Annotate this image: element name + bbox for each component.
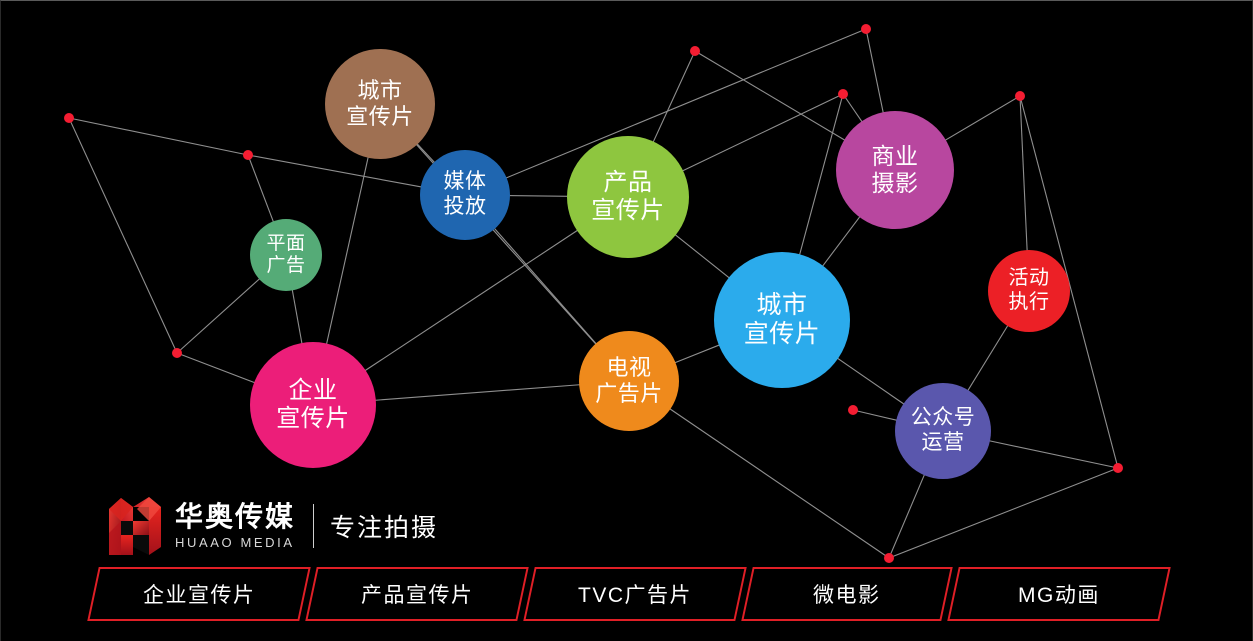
bubble-media-placement[interactable]: 媒体投放 [420,150,510,240]
huaao-h-logo-icon [107,495,163,557]
bubble-label-line: 广告 [266,255,305,277]
slide-canvas: 城市宣传片媒体投放平面广告产品宣传片商业摄影活动执行城市宣传片电视广告片公众号运… [0,0,1253,641]
network-link [505,29,866,179]
bubble-city-promo-blue[interactable]: 城市宣传片 [714,252,850,388]
bubble-label-line: 平面 [266,233,305,255]
bubble-label-line: 活动 [1009,267,1050,291]
network-link [674,234,730,279]
tab-mg-animation[interactable]: MG动画 [947,567,1170,621]
network-link [364,230,579,372]
bubble-label-line: 宣传片 [744,320,821,350]
bubble-label-line: 城市 [357,78,402,104]
bubble-label-line: 摄影 [872,170,919,197]
brand-text: 华奥传媒 HUAAO MEDIA [175,502,295,549]
tab-tvc-ad[interactable]: TVC广告片 [523,567,746,621]
bubble-label-line: 宣传片 [276,405,350,433]
tab-label: MG动画 [1018,579,1100,609]
tab-label: 微电影 [813,579,881,609]
tab-label: TVC广告片 [578,579,692,609]
network-link [669,408,889,558]
network-link [177,353,256,383]
network-link [69,118,248,155]
category-tab-bar: 企业宣传片产品宣传片TVC广告片微电影MG动画 [1,567,1253,629]
network-link [177,278,261,353]
network-link [988,441,1118,468]
network-link [493,227,597,345]
bubble-label-line: 宣传片 [591,197,665,225]
network-link [1020,96,1027,252]
network-link [695,51,846,141]
bubble-label-line: 产品 [604,169,653,197]
tab-micro-film[interactable]: 微电影 [741,567,952,621]
network-node-dot[interactable] [1113,463,1123,473]
bubble-label-line: 企业 [289,377,338,405]
network-link [508,196,569,197]
tab-product-promo[interactable]: 产品宣传片 [305,567,528,621]
brand-logo: 华奥传媒 HUAAO MEDIA 专注拍摄 [107,495,438,557]
bubble-city-promo-brown[interactable]: 城市宣传片 [325,49,435,159]
bubble-label-line: 电视 [606,355,651,381]
network-node-dot[interactable] [1015,91,1025,101]
network-link [674,344,721,363]
tab-enterprise-promo[interactable]: 企业宣传片 [87,567,310,621]
network-link [416,143,435,164]
bubble-label-line: 城市 [756,291,807,321]
network-nodes [64,24,1123,563]
network-node-dot[interactable] [848,405,858,415]
network-link [248,155,274,223]
network-node-dot[interactable] [861,24,871,34]
network-node-dot[interactable] [838,89,848,99]
bubble-label-line: 运营 [922,431,965,456]
bubble-event-execution[interactable]: 活动执行 [988,250,1070,332]
network-link [889,473,925,558]
bubble-label-line: 媒体 [444,170,487,195]
network-link [853,410,898,421]
network-link [889,468,1118,558]
network-link [681,94,843,172]
company-name-cn: 华奥传媒 [175,502,295,531]
network-link [326,156,368,346]
tab-label: 产品宣传片 [361,579,474,609]
network-link [822,216,861,268]
network-link [967,324,1009,392]
network-link [866,29,884,114]
network-node-dot[interactable] [243,150,253,160]
network-link [248,155,423,187]
network-link [944,96,1020,141]
network-node-dot[interactable] [884,553,894,563]
network-link [69,118,177,353]
bubble-commercial-photo[interactable]: 商业摄影 [836,111,954,229]
network-link [292,288,302,345]
bubble-label-line: 宣传片 [346,104,414,130]
bubble-tv-ad[interactable]: 电视广告片 [579,331,679,431]
network-node-dot[interactable] [64,113,74,123]
bubble-label-line: 公众号 [911,406,976,431]
logo-divider [313,504,314,548]
network-links [69,29,1118,558]
network-link [653,51,695,143]
network-link [836,357,905,404]
network-link [843,94,863,123]
bubble-wechat-operation[interactable]: 公众号运营 [895,383,991,479]
bubble-enterprise-promo[interactable]: 企业宣传片 [250,342,376,468]
company-name-en: HUAAO MEDIA [175,535,295,550]
network-link [374,385,581,401]
network-node-dot[interactable] [172,348,182,358]
bubble-print-ad[interactable]: 平面广告 [250,219,322,291]
network-node-dot[interactable] [690,46,700,56]
tab-label: 企业宣传片 [143,579,256,609]
bubble-label-line: 广告片 [595,381,663,407]
bubble-product-promo[interactable]: 产品宣传片 [567,136,689,258]
bubble-label-line: 投放 [444,195,487,220]
brand-slogan: 专注拍摄 [330,508,438,544]
bubble-label-line: 商业 [872,143,919,170]
bubble-label-line: 执行 [1009,291,1050,315]
